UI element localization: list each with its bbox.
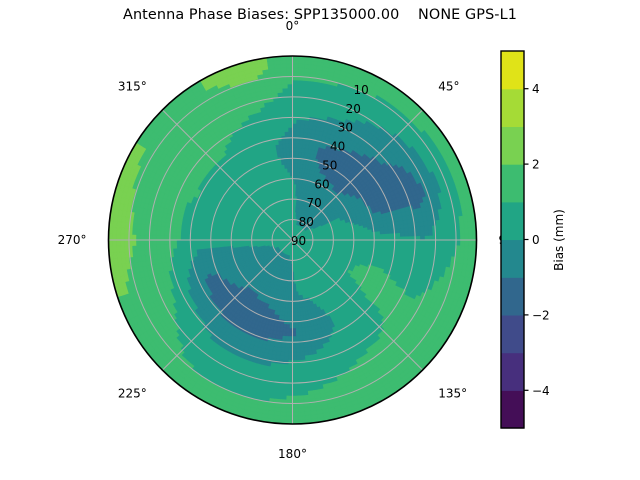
colorbar-tick-label-2: 0 <box>532 233 540 247</box>
colorbar-tick-label-1: −2 <box>532 308 550 322</box>
colorbar: −4−2024 Bias (mm) <box>0 0 640 480</box>
colorbar-tick-label-3: 2 <box>532 158 540 172</box>
figure-canvas: Antenna Phase Biases: SPP135000.00 NONE … <box>0 0 640 480</box>
colorbar-ticks: −4−2024 <box>524 82 550 398</box>
colorbar-tick-label-4: 4 <box>532 82 540 96</box>
colorbar-tick-label-0: −4 <box>532 384 550 398</box>
colorbar-axis-label: Bias (mm) <box>552 209 566 271</box>
colorbar-bands <box>501 51 524 429</box>
